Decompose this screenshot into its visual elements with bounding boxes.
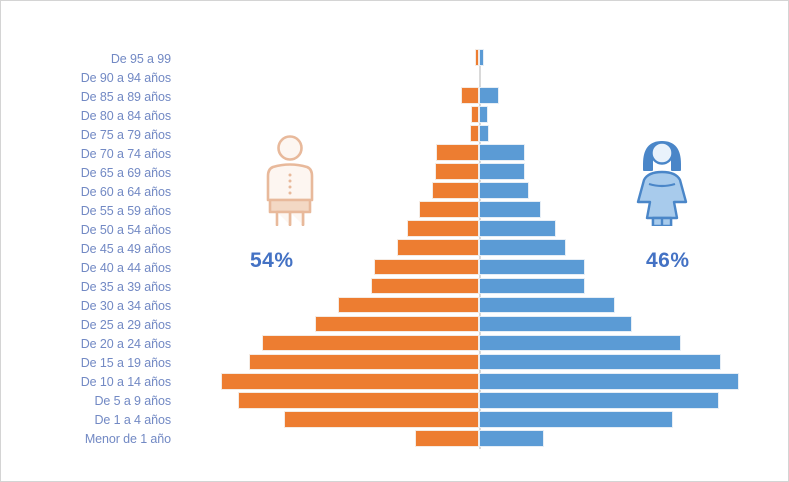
female-bar-container bbox=[479, 392, 771, 409]
category-label: De 25 a 29 años bbox=[1, 316, 181, 335]
female-bar-container bbox=[479, 259, 771, 276]
male-bar-container bbox=[191, 87, 479, 104]
category-label: Menor de 1 año bbox=[1, 430, 181, 449]
female-bar[interactable] bbox=[479, 316, 632, 333]
female-bar[interactable] bbox=[479, 430, 544, 447]
male-bar-container bbox=[191, 201, 479, 218]
male-bar-container bbox=[191, 259, 479, 276]
male-bar[interactable] bbox=[419, 201, 479, 218]
male-bar[interactable] bbox=[374, 259, 479, 276]
category-label: De 10 a 14 años bbox=[1, 373, 181, 392]
female-bar[interactable] bbox=[479, 239, 566, 256]
category-axis-labels: De 95 a 99De 90 a 94 añosDe 85 a 89 años… bbox=[1, 49, 181, 449]
category-label: De 55 a 59 años bbox=[1, 201, 181, 220]
female-bar[interactable] bbox=[479, 49, 484, 66]
female-bar-container bbox=[479, 125, 771, 142]
category-label: De 35 a 39 años bbox=[1, 278, 181, 297]
male-bar[interactable] bbox=[397, 239, 479, 256]
category-label: De 5 a 9 años bbox=[1, 392, 181, 411]
male-bar-container bbox=[191, 182, 479, 199]
male-bar-container bbox=[191, 125, 479, 142]
male-bar-container bbox=[191, 354, 479, 371]
male-bar[interactable] bbox=[415, 430, 479, 447]
category-label: De 70 a 74 años bbox=[1, 144, 181, 163]
male-bar[interactable] bbox=[470, 125, 479, 142]
male-bar-container bbox=[191, 430, 479, 447]
female-bar-container bbox=[479, 278, 771, 295]
female-bar[interactable] bbox=[479, 335, 681, 352]
male-person-icon bbox=[259, 134, 321, 231]
male-bar-container bbox=[191, 163, 479, 180]
male-bar[interactable] bbox=[436, 144, 479, 161]
category-label: De 30 a 34 años bbox=[1, 297, 181, 316]
male-bar[interactable] bbox=[435, 163, 479, 180]
male-bar[interactable] bbox=[221, 373, 479, 390]
male-bar-container bbox=[191, 373, 479, 390]
category-label: De 15 a 19 años bbox=[1, 354, 181, 373]
female-bar[interactable] bbox=[479, 411, 673, 428]
female-bar[interactable] bbox=[479, 373, 739, 390]
female-bar[interactable] bbox=[479, 125, 489, 142]
category-label: De 20 a 24 años bbox=[1, 335, 181, 354]
female-bar-container bbox=[479, 220, 771, 237]
female-bar-container bbox=[479, 106, 771, 123]
female-bar-container bbox=[479, 239, 771, 256]
male-bar[interactable] bbox=[407, 220, 479, 237]
female-bar-container bbox=[479, 144, 771, 161]
male-bar[interactable] bbox=[249, 354, 479, 371]
pyramid-bar-row bbox=[191, 297, 771, 314]
male-bar[interactable] bbox=[315, 316, 479, 333]
pyramid-bar-row bbox=[191, 87, 771, 104]
female-bar[interactable] bbox=[479, 220, 556, 237]
pyramid-bar-row bbox=[191, 373, 771, 390]
category-label: De 95 a 99 bbox=[1, 49, 181, 68]
male-bar-container bbox=[191, 68, 479, 85]
male-bar[interactable] bbox=[471, 106, 479, 123]
female-bar-container bbox=[479, 354, 771, 371]
pyramid-bar-row bbox=[191, 335, 771, 352]
female-bar-container bbox=[479, 87, 771, 104]
female-bar[interactable] bbox=[479, 163, 525, 180]
female-bar[interactable] bbox=[479, 201, 541, 218]
female-bar-container bbox=[479, 430, 771, 447]
male-bar-container bbox=[191, 297, 479, 314]
category-label: De 90 a 94 años bbox=[1, 68, 181, 87]
female-bar-container bbox=[479, 373, 771, 390]
male-bar-container bbox=[191, 49, 479, 66]
pyramid-bar-row bbox=[191, 68, 771, 85]
category-label: De 80 a 84 años bbox=[1, 106, 181, 125]
female-bar-container bbox=[479, 411, 771, 428]
female-bar[interactable] bbox=[479, 392, 719, 409]
female-percent-label: 46% bbox=[646, 249, 690, 273]
male-bar[interactable] bbox=[461, 87, 479, 104]
male-bar-container bbox=[191, 411, 479, 428]
male-bar-container bbox=[191, 278, 479, 295]
category-label: De 60 a 64 años bbox=[1, 182, 181, 201]
female-bar[interactable] bbox=[479, 144, 525, 161]
male-bar-container bbox=[191, 239, 479, 256]
female-bar[interactable] bbox=[479, 297, 615, 314]
male-bar[interactable] bbox=[371, 278, 479, 295]
category-label: De 50 a 54 años bbox=[1, 220, 181, 239]
category-label: De 45 a 49 años bbox=[1, 239, 181, 258]
male-bar-container bbox=[191, 220, 479, 237]
female-bar-container bbox=[479, 297, 771, 314]
female-bar[interactable] bbox=[479, 87, 499, 104]
male-percent-label: 54% bbox=[250, 249, 294, 273]
category-label: De 85 a 89 años bbox=[1, 87, 181, 106]
male-bar-container bbox=[191, 106, 479, 123]
female-bar-container bbox=[479, 201, 771, 218]
male-bar[interactable] bbox=[262, 335, 479, 352]
pyramid-bar-row bbox=[191, 49, 771, 66]
pyramid-bar-row bbox=[191, 392, 771, 409]
pyramid-bar-row bbox=[191, 278, 771, 295]
pyramid-bar-row bbox=[191, 354, 771, 371]
female-bar-container bbox=[479, 316, 771, 333]
male-bar[interactable] bbox=[284, 411, 479, 428]
male-bar-container bbox=[191, 316, 479, 333]
female-bar[interactable] bbox=[479, 259, 585, 276]
female-bar[interactable] bbox=[479, 278, 585, 295]
category-label: De 65 a 69 años bbox=[1, 163, 181, 182]
chart-frame: De 95 a 99De 90 a 94 añosDe 85 a 89 años… bbox=[0, 0, 789, 482]
female-bar[interactable] bbox=[479, 106, 488, 123]
male-bar-container bbox=[191, 392, 479, 409]
male-bar[interactable] bbox=[338, 297, 479, 314]
female-person-icon bbox=[631, 134, 693, 231]
category-label: De 40 a 44 años bbox=[1, 259, 181, 278]
category-label: De 75 a 79 años bbox=[1, 125, 181, 144]
male-bar[interactable] bbox=[432, 182, 479, 199]
male-bar-container bbox=[191, 335, 479, 352]
female-bar-container bbox=[479, 68, 771, 85]
female-bar[interactable] bbox=[479, 182, 529, 199]
male-bar-container bbox=[191, 144, 479, 161]
female-bar-container bbox=[479, 182, 771, 199]
pyramid-bar-row bbox=[191, 430, 771, 447]
female-bar-container bbox=[479, 163, 771, 180]
female-bar[interactable] bbox=[479, 354, 721, 371]
pyramid-bar-row bbox=[191, 316, 771, 333]
pyramid-bar-row bbox=[191, 106, 771, 123]
category-label: De 1 a 4 años bbox=[1, 411, 181, 430]
female-bar-container bbox=[479, 49, 771, 66]
pyramid-bar-row bbox=[191, 411, 771, 428]
male-bar[interactable] bbox=[238, 392, 479, 409]
female-bar-container bbox=[479, 335, 771, 352]
